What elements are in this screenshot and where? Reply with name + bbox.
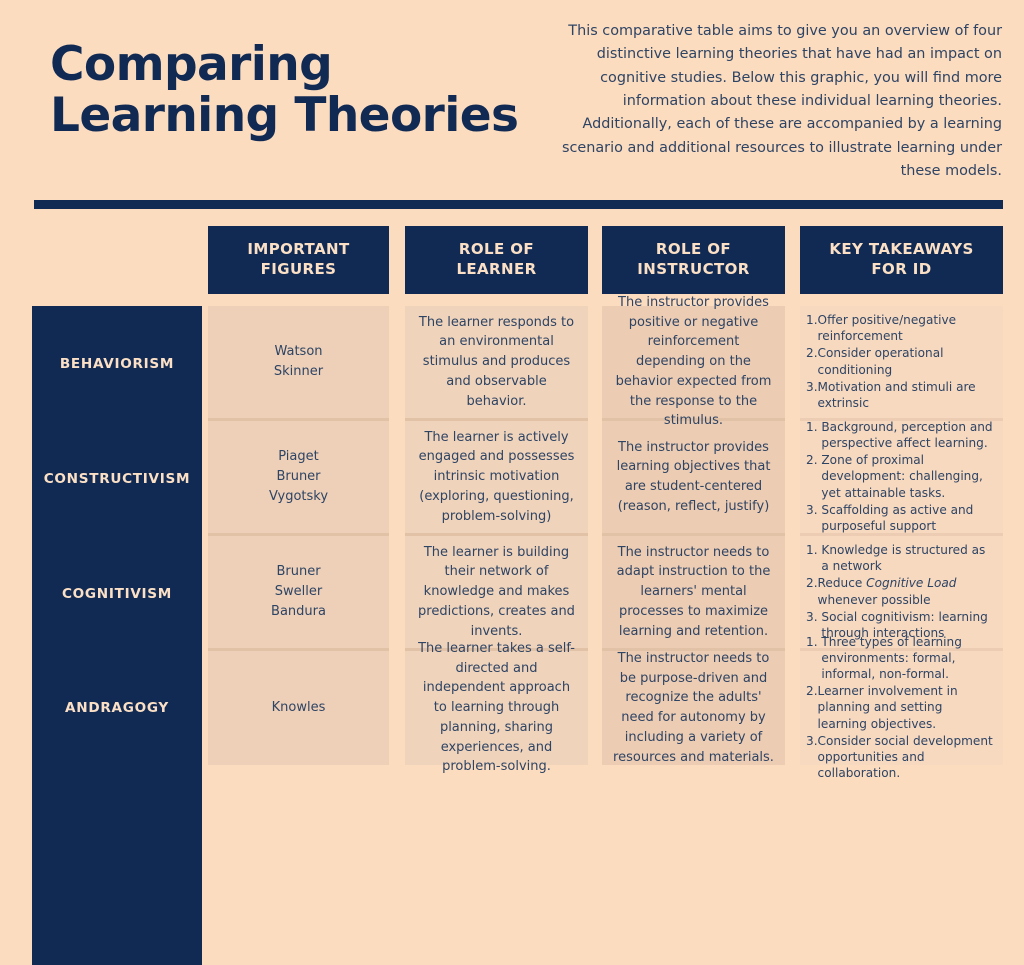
- cell-important-figures: Bruner Sweller Bandura: [208, 536, 389, 651]
- takeaway-text: Background, perception and perspective a…: [821, 419, 995, 451]
- column-role-of-instructor: The instructor provides positive or nega…: [602, 306, 785, 765]
- takeaway-text: Consider social development opportunitie…: [818, 733, 995, 782]
- takeaway-item: 3. Scaffolding as active and purposeful …: [806, 502, 995, 534]
- column-header-line-1: ROLE OF: [637, 240, 749, 260]
- cell-role-of-learner: The learner takes a self-directed and in…: [405, 651, 588, 765]
- takeaway-item: 2.Reduce Cognitive Load whenever possibl…: [806, 575, 995, 607]
- takeaway-text: Motivation and stimuli are extrinsic: [818, 379, 995, 411]
- column-header-line-2: LEARNER: [456, 260, 536, 280]
- intro-paragraph: This comparative table aims to give you …: [547, 20, 1002, 183]
- column-header-line-2: FOR ID: [829, 260, 973, 280]
- takeaway-emphasis: Cognitive Load: [866, 576, 956, 590]
- cell-important-figures: Watson Skinner: [208, 306, 389, 421]
- takeaway-number: 1.: [806, 542, 821, 558]
- takeaway-item: 1. Three types of learning environments:…: [806, 634, 995, 683]
- takeaway-number: 1.: [806, 634, 821, 650]
- takeaway-number: 3.: [806, 502, 821, 518]
- takeaway-text: Consider operational conditioning: [818, 345, 995, 377]
- takeaway-item: 3.Consider social development opportunit…: [806, 733, 995, 782]
- column-header-role-of-instructor: ROLE OF INSTRUCTOR: [602, 226, 785, 294]
- takeaway-item: 2. Zone of proximal development: challen…: [806, 452, 995, 501]
- takeaway-text: Zone of proximal development: challengin…: [821, 452, 995, 501]
- takeaway-item: 2.Learner involvement in planning and se…: [806, 683, 995, 732]
- takeaway-number: 2.: [806, 345, 818, 361]
- takeaway-number: 3.: [806, 733, 818, 749]
- takeaway-item: 1.Offer positive/negative reinforcement: [806, 312, 995, 344]
- column-header-line-1: KEY TAKEAWAYS: [829, 240, 973, 260]
- header-section: Comparing Learning Theories This compara…: [0, 0, 1024, 200]
- cell-role-of-instructor: The instructor provides learning objecti…: [602, 421, 785, 536]
- takeaways-list: 1.Offer positive/negative reinforcement2…: [806, 312, 995, 412]
- takeaways-list: 1. Three types of learning environments:…: [806, 634, 995, 783]
- theory-name-column: BEHAVIORISM CONSTRUCTIVISM COGNITIVISM A…: [32, 306, 202, 965]
- column-important-figures: Watson Skinner Piaget Bruner Vygotsky Br…: [208, 306, 389, 765]
- takeaway-item: 2.Consider operational conditioning: [806, 345, 995, 377]
- takeaway-text: Offer positive/negative reinforcement: [818, 312, 995, 344]
- cell-role-of-learner: The learner is building their network of…: [405, 536, 588, 651]
- page-title: Comparing Learning Theories: [50, 40, 530, 142]
- takeaway-number: 2.: [806, 452, 821, 468]
- takeaway-number: 2.: [806, 575, 818, 591]
- cell-key-takeaways: 1.Offer positive/negative reinforcement2…: [800, 306, 1003, 421]
- theory-name-cognitivism: COGNITIVISM: [32, 536, 202, 651]
- divider-bar: [34, 200, 1003, 209]
- cell-role-of-instructor: The instructor provides positive or nega…: [602, 306, 785, 421]
- theory-name-andragogy: ANDRAGOGY: [32, 651, 202, 765]
- takeaway-text: Learner involvement in planning and sett…: [818, 683, 995, 732]
- takeaway-number: 3.: [806, 379, 818, 395]
- table-header-row: IMPORTANT FIGURES ROLE OF LEARNER ROLE O…: [0, 226, 1024, 300]
- theory-name-constructivism: CONSTRUCTIVISM: [32, 421, 202, 536]
- takeaway-item: 1. Knowledge is structured as a network: [806, 542, 995, 574]
- column-header-role-of-learner: ROLE OF LEARNER: [405, 226, 588, 294]
- column-header-key-takeaways-for-id: KEY TAKEAWAYS FOR ID: [800, 226, 1003, 294]
- column-role-of-learner: The learner responds to an environmental…: [405, 306, 588, 765]
- column-header-important-figures: IMPORTANT FIGURES: [208, 226, 389, 294]
- takeaway-number: 2.: [806, 683, 818, 699]
- takeaway-item: 3.Motivation and stimuli are extrinsic: [806, 379, 995, 411]
- column-header-line-2: INSTRUCTOR: [637, 260, 749, 280]
- cell-role-of-learner: The learner is actively engaged and poss…: [405, 421, 588, 536]
- column-header-line-2: FIGURES: [247, 260, 349, 280]
- takeaway-number: 1.: [806, 312, 818, 328]
- page-title-line-2: Learning Theories: [50, 91, 530, 142]
- column-key-takeaways: 1.Offer positive/negative reinforcement2…: [800, 306, 1003, 765]
- takeaway-number: 1.: [806, 419, 821, 435]
- comparison-table: IMPORTANT FIGURES ROLE OF LEARNER ROLE O…: [0, 220, 1024, 750]
- takeaway-number: 3.: [806, 609, 821, 625]
- takeaway-text: Reduce Cognitive Load whenever possible: [818, 575, 995, 607]
- takeaways-list: 1. Knowledge is structured as a network2…: [806, 542, 995, 642]
- takeaway-text: Knowledge is structured as a network: [821, 542, 995, 574]
- cell-important-figures: Knowles: [208, 651, 389, 765]
- theory-name-behaviorism: BEHAVIORISM: [32, 306, 202, 421]
- takeaways-list: 1. Background, perception and perspectiv…: [806, 419, 995, 535]
- column-header-line-1: IMPORTANT: [247, 240, 349, 260]
- takeaway-item: 1. Background, perception and perspectiv…: [806, 419, 995, 451]
- takeaway-text: Scaffolding as active and purposeful sup…: [821, 502, 995, 534]
- cell-role-of-instructor: The instructor needs to adapt instructio…: [602, 536, 785, 651]
- cell-role-of-instructor: The instructor needs to be purpose-drive…: [602, 651, 785, 765]
- cell-key-takeaways: 1. Background, perception and perspectiv…: [800, 421, 1003, 536]
- cell-important-figures: Piaget Bruner Vygotsky: [208, 421, 389, 536]
- takeaway-text: Three types of learning environments: fo…: [821, 634, 995, 683]
- cell-role-of-learner: The learner responds to an environmental…: [405, 306, 588, 421]
- page-title-line-1: Comparing: [50, 40, 530, 91]
- cell-key-takeaways: 1. Three types of learning environments:…: [800, 651, 1003, 765]
- column-header-line-1: ROLE OF: [456, 240, 536, 260]
